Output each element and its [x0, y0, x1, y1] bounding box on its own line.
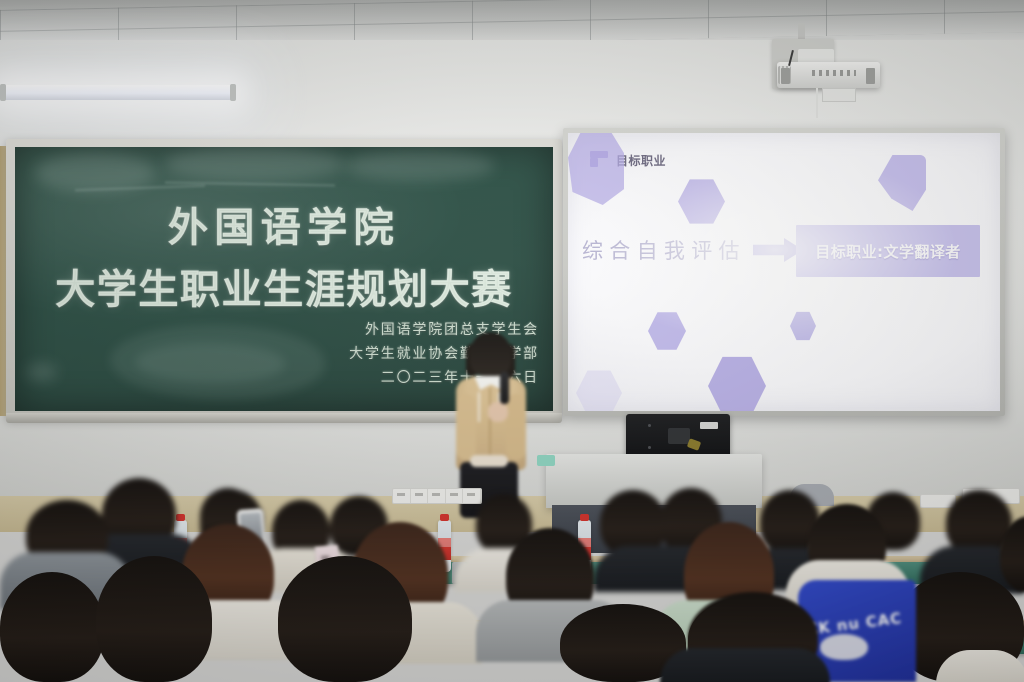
presenter-hands: [488, 402, 508, 422]
slide-left-text: 综合自我评估: [582, 235, 746, 265]
light-cap-left: [0, 84, 6, 101]
projector-speaker-left: [781, 68, 790, 84]
fluorescent-light: [2, 85, 235, 100]
green-object-on-desk: [537, 455, 555, 466]
presenter-drawstring: [478, 392, 480, 422]
projector-panel-dots: [812, 70, 856, 76]
hexagon-decor-icon: [708, 355, 766, 411]
blackboard-title-line1: 外国语学院: [15, 195, 553, 253]
projector-speaker-right: [866, 68, 875, 84]
audience-head: [0, 572, 104, 682]
jersey-graphic-icon: [820, 634, 868, 660]
audience-shoulders: [660, 648, 830, 682]
slide-highlight-text: 目标职业:文学翻译者: [796, 225, 980, 277]
projector-label-tag: [822, 88, 856, 102]
ceiling-shading: [0, 0, 1024, 42]
slide-highlight-box: 目标职业:文学翻译者: [796, 225, 980, 277]
presenter-arm-right: [506, 394, 526, 460]
audience-head: [96, 556, 212, 682]
blackboard-subtitle-line1: 外国语学院团总支学生会: [365, 319, 539, 339]
ceiling: [0, 0, 1024, 42]
projection-screen-frame: 目标职业 综合自我评估 目标职业:文学翻译者: [563, 128, 1005, 416]
classroom-photo: 外国语学院 大学生职业生涯规划大赛 外国语学院团总支学生会 大学生就业协会勤工俭…: [0, 0, 1024, 682]
presentation-slide: 目标职业 综合自我评估 目标职业:文学翻译者: [568, 133, 1000, 411]
microphone: [500, 372, 509, 404]
monitor-stand-hinge: [668, 428, 690, 444]
projector-hanging-wire: [816, 88, 818, 118]
presenter-jacket-hem: [470, 455, 508, 467]
presenter-hair: [470, 332, 511, 376]
power-outlets: [392, 488, 482, 504]
jersey-text: CK nu CAC: [805, 607, 916, 638]
monitor-label: [700, 422, 718, 429]
hexagon-decor-icon: [576, 369, 622, 411]
hexagon-decor-icon: [648, 311, 686, 351]
presenter-arm-left: [456, 394, 476, 460]
hexagon-decor-icon: [790, 311, 816, 341]
hexagon-decor-icon: [568, 133, 624, 205]
audience-head: [278, 556, 412, 682]
light-cap-right: [230, 84, 236, 101]
blackboard-title-line2: 大学生职业生涯规划大赛: [15, 257, 553, 315]
hexagon-decor-icon: [878, 155, 926, 211]
hexagon-decor-icon: [678, 178, 725, 225]
